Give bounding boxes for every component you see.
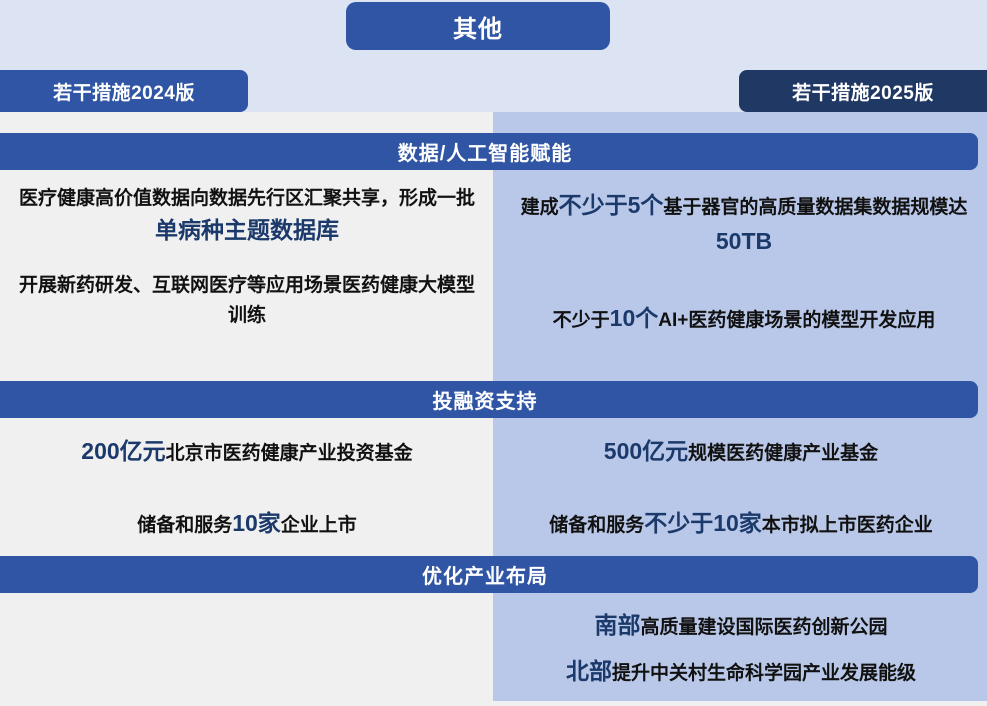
text-run: 高质量建设国际医药创新公园 [640,617,887,638]
highlighted-phrase: 200亿元 [81,438,165,464]
highlighted-phrase: 北部 [566,658,612,684]
text-run: 开展新药研发、互联网医疗等应用场景医药健康大模型训练 [19,275,475,325]
section-2-right-content: 500亿元规模医药健康产业基金储备和服务不少于10家本市拟上市医药企业 [500,434,982,541]
section-heading-industry-layout: 优化产业布局 [0,556,978,593]
content-paragraph: 医疗健康高价值数据向数据先行区汇聚共享，形成一批单病种主题数据库 [18,184,476,249]
highlighted-phrase: 不少于5个 [559,192,664,218]
highlighted-phrase: 单病种主题数据库 [155,217,339,243]
text-run: 企业上市 [281,515,357,536]
highlighted-phrase: 不少于10家 [644,510,762,536]
badge-2024-version: 若干措施2024版 [0,70,248,112]
content-paragraph: 不少于10个AI+医药健康场景的模型开发应用 [505,301,983,337]
text-run: 储备和服务 [137,515,232,536]
content-paragraph: 开展新药研发、互联网医疗等应用场景医药健康大模型训练 [18,271,476,330]
text-run: 不少于 [553,310,610,331]
content-paragraph: 500亿元规模医药健康产业基金 [500,434,982,470]
highlighted-phrase: 50TB [716,228,772,254]
section-1-left-content: 医疗健康高价值数据向数据先行区汇聚共享，形成一批单病种主题数据库开展新药研发、互… [18,184,476,330]
comparison-infographic: 其他 若干措施2024版 若干措施2025版 数据/人工智能赋能 医疗健康高价值… [0,0,987,706]
highlighted-phrase: 南部 [594,612,640,638]
page-title: 其他 [346,2,610,50]
content-paragraph: 储备和服务不少于10家本市拟上市医药企业 [500,506,982,542]
content-paragraph: 储备和服务10家企业上市 [18,506,476,542]
text-run: 本市拟上市医药企业 [762,515,933,536]
highlighted-phrase: 10家 [232,510,281,536]
section-3-right-content: 南部高质量建设国际医药创新公园北部提升中关村生命科学园产业发展能级 [500,608,982,689]
section-1-right-content: 建成不少于5个基于器官的高质量数据集数据规模达50TB不少于10个AI+医药健康… [505,188,983,337]
text-run: 基于器官的高质量数据集数据规模达 [663,197,967,218]
text-run: 建成 [521,197,559,218]
text-run: 医疗健康高价值数据向数据先行区汇聚共享，形成一批 [19,188,475,209]
text-run: 储备和服务 [549,515,644,536]
badge-2025-version: 若干措施2025版 [739,70,987,112]
highlighted-phrase: 10个 [610,305,659,331]
text-run: 提升中关村生命科学园产业发展能级 [612,663,916,684]
content-paragraph: 北部提升中关村生命科学园产业发展能级 [500,654,982,690]
text-run: 北京市医药健康产业投资基金 [166,443,413,464]
highlighted-phrase: 500亿元 [604,438,688,464]
text-run: AI+医药健康场景的模型开发应用 [658,310,935,331]
section-heading-data-ai: 数据/人工智能赋能 [0,133,978,170]
content-paragraph: 南部高质量建设国际医药创新公园 [500,608,982,644]
section-heading-investment: 投融资支持 [0,381,978,418]
text-run: 规模医药健康产业基金 [688,443,878,464]
content-paragraph: 建成不少于5个基于器官的高质量数据集数据规模达50TB [505,188,983,259]
section-2-left-content: 200亿元北京市医药健康产业投资基金储备和服务10家企业上市 [18,434,476,541]
content-paragraph: 200亿元北京市医药健康产业投资基金 [18,434,476,470]
